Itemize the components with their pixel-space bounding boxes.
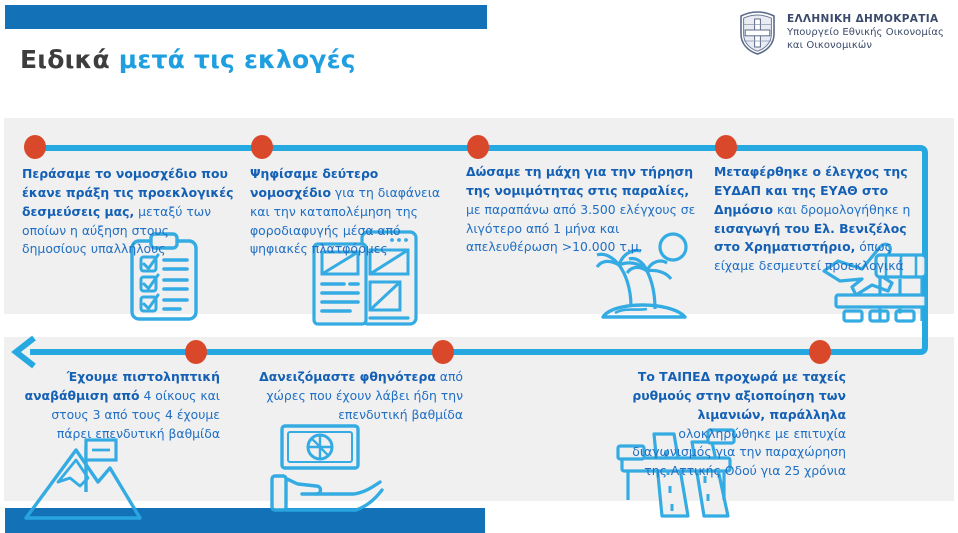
timeline-item-4-regular-1: και δρομολογήθηκε η [773,202,910,217]
timeline-item-5-text: Έχουμε πιστοληπτική αναβάθμιση από 4 οίκ… [20,368,220,443]
top-accent-bar [5,5,487,29]
timeline-item-5[interactable]: Έχουμε πιστοληπτική αναβάθμιση από 4 οίκ… [20,368,220,443]
timeline-item-1[interactable]: Περάσαμε το νομοσχέδιο που έκανε πράξη τ… [22,165,237,259]
timeline-item-4[interactable]: Μεταφέρθηκε ο έλεγχος της ΕΥΔΑΠ και της … [714,163,932,276]
timeline-item-4-text: Μεταφέρθηκε ο έλεγχος της ΕΥΔΑΠ και της … [714,163,932,276]
timeline-item-7-text: Το ΤΑΙΠΕΔ προχωρά με ταχείς ρυθμούς στην… [618,368,846,481]
logo-line-2: Υπουργείο Εθνικής Οικονομίας [787,27,944,40]
ministry-logo: ΕΛΛΗΝΙΚΗ ΔΗΜΟΚΡΑΤΙΑ Υπουργείο Εθνικής Οι… [737,10,944,56]
timeline-item-3-regular: με παραπάνω από 3.500 ελέγχους σε λιγότε… [466,202,695,255]
slide-canvas: Ειδικά μετά τις εκλογές ΕΛΛΗΝΙΚΗ ΔΗΜΟΚΡΑ… [0,0,958,533]
hand-holding-money-icon [270,420,384,516]
page-title-plain: Ειδικά [20,45,119,74]
timeline-item-7[interactable]: Το ΤΑΙΠΕΔ προχωρά με ταχείς ρυθμούς στην… [618,368,846,481]
timeline-item-3[interactable]: Δώσαμε τη μάχη για την τήρηση της νομιμό… [466,163,706,257]
timeline-item-6-bold-2: φθηνότερα [360,369,436,384]
logo-line-3: και Οικονομικών [787,40,944,53]
timeline-item-6[interactable]: Δανειζόμαστε φθηνότερα από χώρες που έχο… [258,368,463,425]
timeline-item-6-bold-1: Δανειζόμαστε [259,369,360,384]
timeline-item-1-text: Περάσαμε το νομοσχέδιο που έκανε πράξη τ… [22,165,237,259]
timeline-item-7-regular: ολοκληρώθηκε με επιτυχία διαγωνισμός για… [632,426,846,479]
timeline-item-6-text: Δανειζόμαστε φθηνότερα από χώρες που έχο… [258,368,463,425]
timeline-item-3-bold: Δώσαμε τη μάχη για την τήρηση της νομιμό… [466,164,693,198]
greek-coat-of-arms-icon [737,10,778,56]
logo-line-1: ΕΛΛΗΝΙΚΗ ΔΗΜΟΚΡΑΤΙΑ [787,13,944,26]
timeline-item-7-bold: Το ΤΑΙΠΕΔ προχωρά με ταχείς ρυθμούς στην… [632,369,846,422]
ministry-logo-text: ΕΛΛΗΝΙΚΗ ΔΗΜΟΚΡΑΤΙΑ Υπουργείο Εθνικής Οι… [787,13,944,52]
timeline-item-2-text: Ψηφίσαμε δεύτερο νομοσχέδιο για τη διαφά… [250,165,455,259]
page-title: Ειδικά μετά τις εκλογές [20,45,356,74]
timeline-item-2[interactable]: Ψηφίσαμε δεύτερο νομοσχέδιο για τη διαφά… [250,165,455,259]
page-title-accent: μετά τις εκλογές [119,45,356,74]
timeline-item-3-text: Δώσαμε τη μάχη για την τήρηση της νομιμό… [466,163,706,257]
